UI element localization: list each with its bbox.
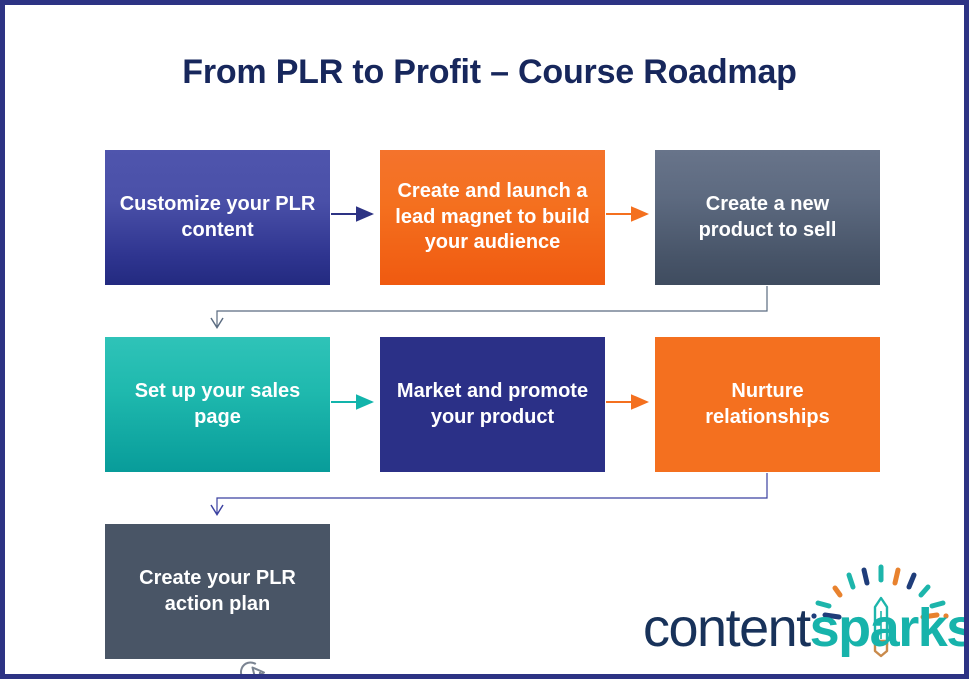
flow-node-set-up-sales-page[interactable]: Set up your sales page [105, 337, 330, 472]
logo-word-sparks: sparks [810, 598, 969, 658]
flow-node-nurture-relationships[interactable]: Nurture relationships [655, 337, 880, 472]
flow-node-label: Create and launch a lead magnet to build… [392, 179, 593, 256]
flow-node-label: Nurture relationships [667, 379, 868, 430]
flow-node-customize-plr-content[interactable]: Customize your PLR content [105, 150, 330, 285]
circular-arrow-icon [236, 655, 270, 679]
flow-node-label: Customize your PLR content [117, 192, 318, 243]
flow-node-market-promote-product[interactable]: Market and promote your product [380, 337, 605, 472]
page-title: From PLR to Profit – Course Roadmap [5, 53, 969, 92]
flow-node-label: Create your PLR action plan [117, 566, 318, 617]
flow-node-create-new-product[interactable]: Create a new product to sell [655, 150, 880, 285]
flow-node-create-plr-action-plan[interactable]: Create your PLR action plan [105, 524, 330, 659]
logo-word-content: content [643, 598, 810, 658]
slide-canvas: From PLR to Profit – Course Roadmap [0, 0, 969, 679]
contentsparks-logo: contentsparks [643, 561, 953, 661]
flow-node-label: Create a new product to sell [667, 192, 868, 243]
connector-3-4 [217, 286, 767, 327]
flow-node-label: Set up your sales page [117, 379, 318, 430]
connector-6-7 [217, 473, 767, 514]
logo-wordmark: contentsparks [643, 597, 969, 659]
flow-node-create-lead-magnet[interactable]: Create and launch a lead magnet to build… [380, 150, 605, 285]
flow-node-label: Market and promote your product [392, 379, 593, 430]
